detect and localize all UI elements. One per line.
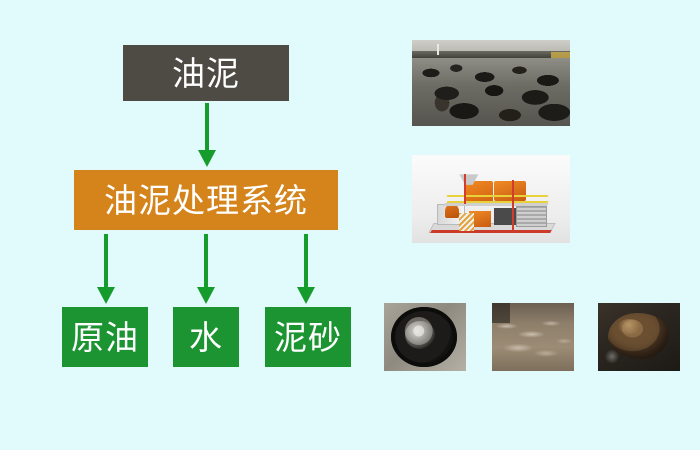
photo-post bbox=[437, 44, 439, 55]
arrow-shaft bbox=[204, 234, 208, 287]
render-red-post-2 bbox=[512, 180, 514, 231]
arrow-head-down-icon bbox=[198, 150, 216, 167]
node-source-oil-sludge[interactable]: 油泥 bbox=[123, 45, 289, 101]
render-cyclone bbox=[445, 204, 459, 218]
arrow-system-to-mud-sand bbox=[296, 234, 316, 304]
render-upper-deck bbox=[443, 203, 549, 206]
photo-oil-sheen bbox=[405, 321, 435, 350]
node-output-crude-oil[interactable]: 原油 bbox=[62, 307, 148, 367]
arrow-shaft bbox=[104, 234, 108, 287]
arrow-shaft bbox=[205, 103, 209, 150]
diagram-canvas: 油泥 油泥处理系统 原油 水 泥砂 bbox=[0, 0, 700, 450]
recovered-water-photo bbox=[492, 303, 574, 371]
render-grating bbox=[516, 206, 546, 227]
arrow-system-to-crude-oil bbox=[96, 234, 116, 304]
arrow-head-down-icon bbox=[297, 287, 315, 304]
node-output-water[interactable]: 水 bbox=[173, 307, 239, 367]
arrow-system-to-water bbox=[196, 234, 216, 304]
node-output-mud-sand[interactable]: 泥砂 bbox=[265, 307, 351, 367]
arrow-shaft bbox=[304, 234, 308, 287]
oil-sludge-shore-photo bbox=[412, 40, 570, 126]
render-shaker bbox=[494, 181, 526, 200]
render-red-frame bbox=[430, 230, 552, 233]
treatment-equipment-render bbox=[412, 155, 570, 243]
arrow-head-down-icon bbox=[97, 287, 115, 304]
photo-water-shadow bbox=[492, 303, 510, 323]
recovered-crude-oil-photo bbox=[384, 303, 466, 371]
photo-oiled-ground bbox=[412, 58, 570, 126]
render-yellow-railing-upper bbox=[446, 195, 548, 197]
render-red-post bbox=[464, 174, 466, 204]
node-treatment-system[interactable]: 油泥处理系统 bbox=[74, 170, 338, 230]
arrow-source-to-system bbox=[197, 103, 217, 167]
render-stairs bbox=[459, 213, 473, 231]
recovered-mud-sand-photo bbox=[598, 303, 680, 371]
arrow-head-down-icon bbox=[197, 287, 215, 304]
